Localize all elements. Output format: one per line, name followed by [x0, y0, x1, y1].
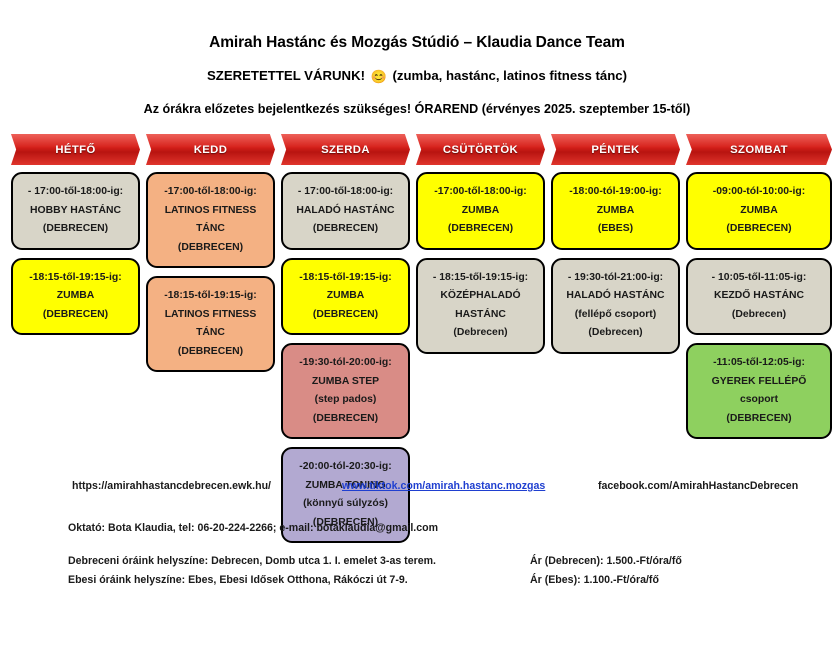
class-location: (DEBRECEN) [153, 343, 268, 362]
subtitle-greeting: SZERETETTEL VÁRUNK! [207, 68, 365, 83]
class-card[interactable]: -18:00-tól-19:00-ig: ZUMBA (EBES) [551, 172, 680, 250]
class-location: (DEBRECEN) [423, 220, 538, 239]
class-title: KEZDŐ HASTÁNC [693, 287, 825, 306]
class-card[interactable]: -17:00-től-18:00-ig: LATINOS FITNESS TÁN… [146, 172, 275, 268]
class-title-cont: HASTÁNC [423, 306, 538, 325]
title-block: Amirah Hastánc és Mozgás Stúdió – Klaudi… [0, 0, 834, 116]
class-card[interactable]: -11:05-től-12:05-ig: GYEREK FELLÉPŐ csop… [686, 343, 832, 439]
class-title: GYEREK FELLÉPŐ [693, 373, 825, 392]
subtitle-disciplines: (zumba, hastánc, latinos fitness tánc) [393, 68, 628, 83]
class-time: - 18:15-től-19:15-ig: [423, 269, 538, 288]
class-title: ZUMBA [693, 202, 825, 221]
footer-links-row: https://amirahhastancdebrecen.ewk.hu/ ww… [0, 480, 834, 506]
class-card[interactable]: - 19:30-tól-21:00-ig: HALADÓ HASTÁNC (fe… [551, 258, 680, 354]
class-card[interactable]: -19:30-tól-20:00-ig: ZUMBA STEP (step pa… [281, 343, 410, 439]
class-location: (DEBRECEN) [288, 410, 403, 429]
class-card[interactable]: -17:00-től-18:00-ig: ZUMBA (DEBRECEN) [416, 172, 545, 250]
instructor-contact: Oktató: Bota Klaudia, tel: 06-20-224-226… [68, 522, 834, 534]
class-time: -09:00-tól-10:00-ig: [693, 183, 825, 202]
venue-price-block: Debreceni óráink helyszíne: Debrecen, Do… [0, 555, 834, 593]
class-title-cont: TÁNC [153, 324, 268, 343]
class-time: - 17:00-től-18:00-ig: [288, 183, 403, 202]
day-header-monday: HÉTFŐ [11, 134, 140, 165]
facebook-link[interactable]: facebook.com/AmirahHastancDebrecen [598, 480, 798, 492]
class-title: ZUMBA [288, 287, 403, 306]
booking-notice: Az órákra előzetes bejelentkezés szükség… [0, 102, 834, 116]
day-header-wednesday: SZERDA [281, 134, 410, 165]
class-time: -17:00-től-18:00-ig: [153, 183, 268, 202]
price-ebes: Ár (Ebes): 1.100.-Ft/óra/fő [530, 574, 659, 586]
class-location: (DEBRECEN) [153, 239, 268, 258]
class-location: (DEBRECEN) [693, 220, 825, 239]
class-card[interactable]: -18:15-től-19:15-ig: ZUMBA (DEBRECEN) [281, 258, 410, 336]
website-link[interactable]: https://amirahhastancdebrecen.ewk.hu/ [72, 480, 271, 492]
class-title: HALADÓ HASTÁNC [288, 202, 403, 221]
class-time: -18:15-től-19:15-ig: [288, 269, 403, 288]
class-time: -18:00-tól-19:00-ig: [558, 183, 673, 202]
class-title: KÖZÉPHALADÓ [423, 287, 538, 306]
class-title: LATINOS FITNESS [153, 202, 268, 221]
subtitle: SZERETETTEL VÁRUNK! 😊 (zumba, hastánc, l… [0, 68, 834, 85]
class-title: LATINOS FITNESS [153, 306, 268, 325]
class-location: (DEBRECEN) [18, 306, 133, 325]
venue-ebes: Ebesi óráink helyszíne: Ebes, Ebesi Idős… [68, 574, 408, 586]
class-card[interactable]: -18:15-től-19:15-ig: ZUMBA (DEBRECEN) [11, 258, 140, 336]
class-time: -11:05-től-12:05-ig: [693, 354, 825, 373]
footer: https://amirahhastancdebrecen.ewk.hu/ ww… [0, 480, 834, 593]
class-card[interactable]: -18:15-től-19:15-ig: LATINOS FITNESS TÁN… [146, 276, 275, 372]
smiling-face-icon: 😊 [369, 69, 389, 84]
class-card[interactable]: - 10:05-től-11:05-ig: KEZDŐ HASTÁNC (Deb… [686, 258, 832, 336]
class-location: (Debrecen) [558, 324, 673, 343]
class-time: - 17:00-től-18:00-ig: [18, 183, 133, 202]
class-title: ZUMBA [423, 202, 538, 221]
class-note: (fellépő csoport) [558, 306, 673, 325]
class-title-cont: TÁNC [153, 220, 268, 239]
class-title: ZUMBA [18, 287, 133, 306]
class-card[interactable]: - 17:00-től-18:00-ig: HALADÓ HASTÁNC (DE… [281, 172, 410, 250]
day-header-friday: PÉNTEK [551, 134, 680, 165]
class-time: -17:00-től-18:00-ig: [423, 183, 538, 202]
page-title: Amirah Hastánc és Mozgás Stúdió – Klaudi… [0, 34, 834, 52]
day-header-thursday: CSÜTÖRTÖK [416, 134, 545, 165]
class-location: (DEBRECEN) [288, 306, 403, 325]
class-time: -18:15-től-19:15-ig: [153, 287, 268, 306]
class-title: ZUMBA STEP [288, 373, 403, 392]
class-location: (DEBRECEN) [693, 410, 825, 429]
day-header-saturday: SZOMBAT [686, 134, 832, 165]
class-time: -19:30-tól-20:00-ig: [288, 354, 403, 373]
class-title: HOBBY HASTÁNC [18, 202, 133, 221]
class-location: (EBES) [558, 220, 673, 239]
class-location: (DEBRECEN) [288, 220, 403, 239]
class-time: - 19:30-tól-21:00-ig: [558, 269, 673, 288]
schedule-poster: Amirah Hastánc és Mozgás Stúdió – Klaudi… [0, 0, 834, 648]
class-note: csoport [693, 391, 825, 410]
venue-debrecen: Debreceni óráink helyszíne: Debrecen, Do… [68, 555, 436, 567]
class-location: (DEBRECEN) [18, 220, 133, 239]
price-debrecen: Ár (Debrecen): 1.500.-Ft/óra/fő [530, 555, 682, 567]
class-time: - 10:05-től-11:05-ig: [693, 269, 825, 288]
class-location: (Debrecen) [423, 324, 538, 343]
day-header-tuesday: KEDD [146, 134, 275, 165]
class-title: HALADÓ HASTÁNC [558, 287, 673, 306]
class-time: -18:15-től-19:15-ig: [18, 269, 133, 288]
tiktok-link[interactable]: www.tiktok.com/amirah.hastanc.mozgas [342, 480, 545, 492]
class-location: (Debrecen) [693, 306, 825, 325]
class-card[interactable]: -09:00-tól-10:00-ig: ZUMBA (DEBRECEN) [686, 172, 832, 250]
class-note: (step pados) [288, 391, 403, 410]
class-title: ZUMBA [558, 202, 673, 221]
class-time: -20:00-tól-20:30-ig: [288, 458, 403, 477]
class-card[interactable]: - 17:00-től-18:00-ig: HOBBY HASTÁNC (DEB… [11, 172, 140, 250]
class-card[interactable]: - 18:15-től-19:15-ig: KÖZÉPHALADÓ HASTÁN… [416, 258, 545, 354]
